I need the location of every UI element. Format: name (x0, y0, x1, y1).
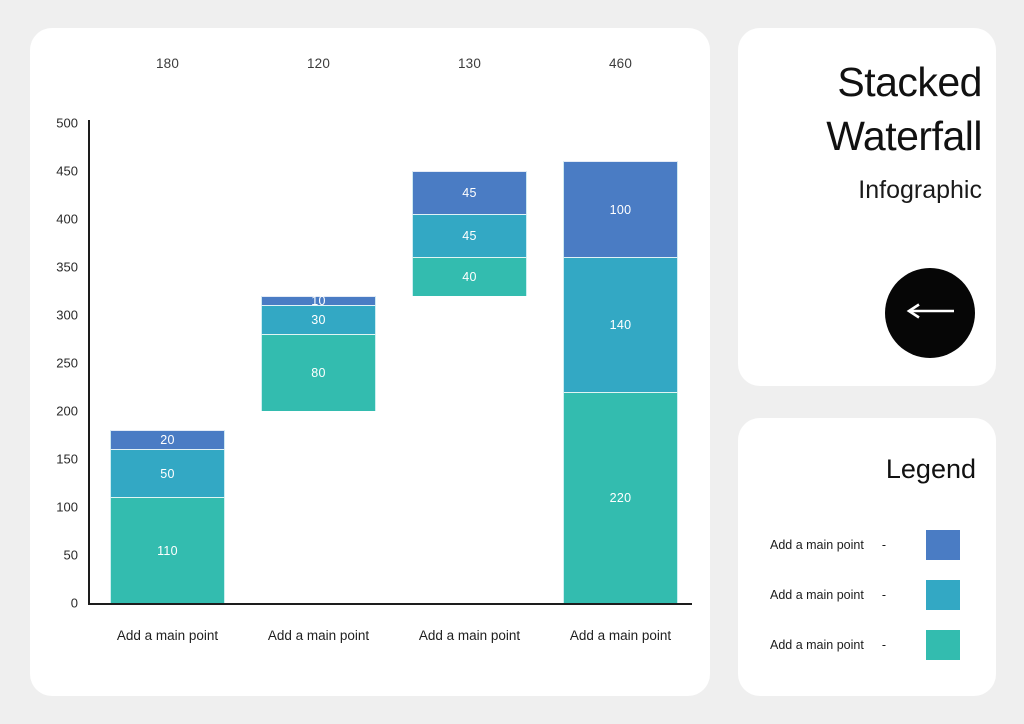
chart-panel: 5004504003503002502001501005001801201304… (30, 28, 710, 696)
bar-segment[interactable]: 80 (261, 334, 376, 411)
bar-segment[interactable]: 30 (261, 305, 376, 334)
y-axis-tick-label: 250 (30, 356, 78, 371)
legend-color-swatch (926, 630, 960, 660)
arrow-left-icon (904, 301, 956, 326)
x-axis-line (88, 603, 692, 605)
legend-item-dash: - (882, 538, 886, 552)
y-axis-tick-label: 0 (30, 596, 78, 611)
legend-item-label: Add a main point (770, 588, 864, 602)
bar-segment-value: 140 (610, 318, 632, 332)
y-axis-tick-label: 500 (30, 116, 78, 131)
legend-item[interactable]: Add a main point- (770, 530, 978, 560)
bar-segment-value: 30 (311, 313, 326, 327)
title-line-1: Stacked (837, 62, 982, 103)
legend-item-dash: - (882, 638, 886, 652)
bar-total-label: 120 (261, 56, 376, 71)
chart-plot-area: 5004504003503002502001501005001801201304… (30, 28, 710, 696)
legend-item[interactable]: Add a main point- (770, 580, 978, 610)
title-panel: Stacked Waterfall Infographic (738, 28, 996, 386)
y-axis-line (88, 120, 90, 605)
y-axis-tick-label: 100 (30, 500, 78, 515)
legend-title: Legend (886, 454, 976, 485)
bar-segment-value: 80 (311, 366, 326, 380)
bar-total-label: 460 (563, 56, 678, 71)
x-axis-category-label: Add a main point (535, 628, 706, 643)
legend-panel: Legend Add a main point-Add a main point… (738, 418, 996, 696)
legend-color-swatch (926, 580, 960, 610)
bar-segment[interactable]: 40 (412, 257, 527, 295)
y-axis-tick-label: 450 (30, 164, 78, 179)
bar-segment[interactable]: 140 (563, 257, 678, 391)
bar-segment-value: 110 (157, 544, 178, 558)
legend-item-label: Add a main point (770, 638, 864, 652)
y-axis-tick-label: 50 (30, 548, 78, 563)
bar-segment[interactable]: 45 (412, 171, 527, 214)
legend-item[interactable]: Add a main point- (770, 630, 978, 660)
bar-segment[interactable]: 100 (563, 161, 678, 257)
y-axis-tick-label: 350 (30, 260, 78, 275)
y-axis-tick-label: 150 (30, 452, 78, 467)
bar-segment-value: 45 (462, 186, 477, 200)
bar-segment-value: 45 (462, 229, 477, 243)
bar-segment-value: 20 (160, 433, 175, 447)
bar-segment[interactable]: 50 (110, 449, 225, 497)
x-axis-category-label: Add a main point (82, 628, 253, 643)
title-subtitle: Infographic (858, 176, 982, 205)
legend-item-dash: - (882, 588, 886, 602)
bar-segment-value: 100 (610, 203, 632, 217)
y-axis-tick-label: 400 (30, 212, 78, 227)
bar-segment[interactable]: 220 (563, 392, 678, 603)
bar-segment-value: 220 (610, 491, 632, 505)
bar-segment[interactable]: 20 (110, 430, 225, 449)
legend-item-label: Add a main point (770, 538, 864, 552)
bar-segment[interactable]: 45 (412, 214, 527, 257)
bar-segment-value: 40 (462, 270, 477, 284)
y-axis-tick-label: 200 (30, 404, 78, 419)
bar-total-label: 180 (110, 56, 225, 71)
legend-color-swatch (926, 530, 960, 560)
bar-segment-value: 10 (311, 294, 326, 308)
bar-segment[interactable]: 10 (261, 296, 376, 306)
bar-total-label: 130 (412, 56, 527, 71)
arrow-left-button[interactable] (885, 268, 975, 358)
x-axis-category-label: Add a main point (384, 628, 555, 643)
bar-segment[interactable]: 110 (110, 497, 225, 603)
infographic-canvas: 5004504003503002502001501005001801201304… (0, 0, 1024, 724)
y-axis-tick-label: 300 (30, 308, 78, 323)
x-axis-category-label: Add a main point (233, 628, 404, 643)
title-line-2: Waterfall (826, 116, 982, 157)
bar-segment-value: 50 (160, 467, 175, 481)
